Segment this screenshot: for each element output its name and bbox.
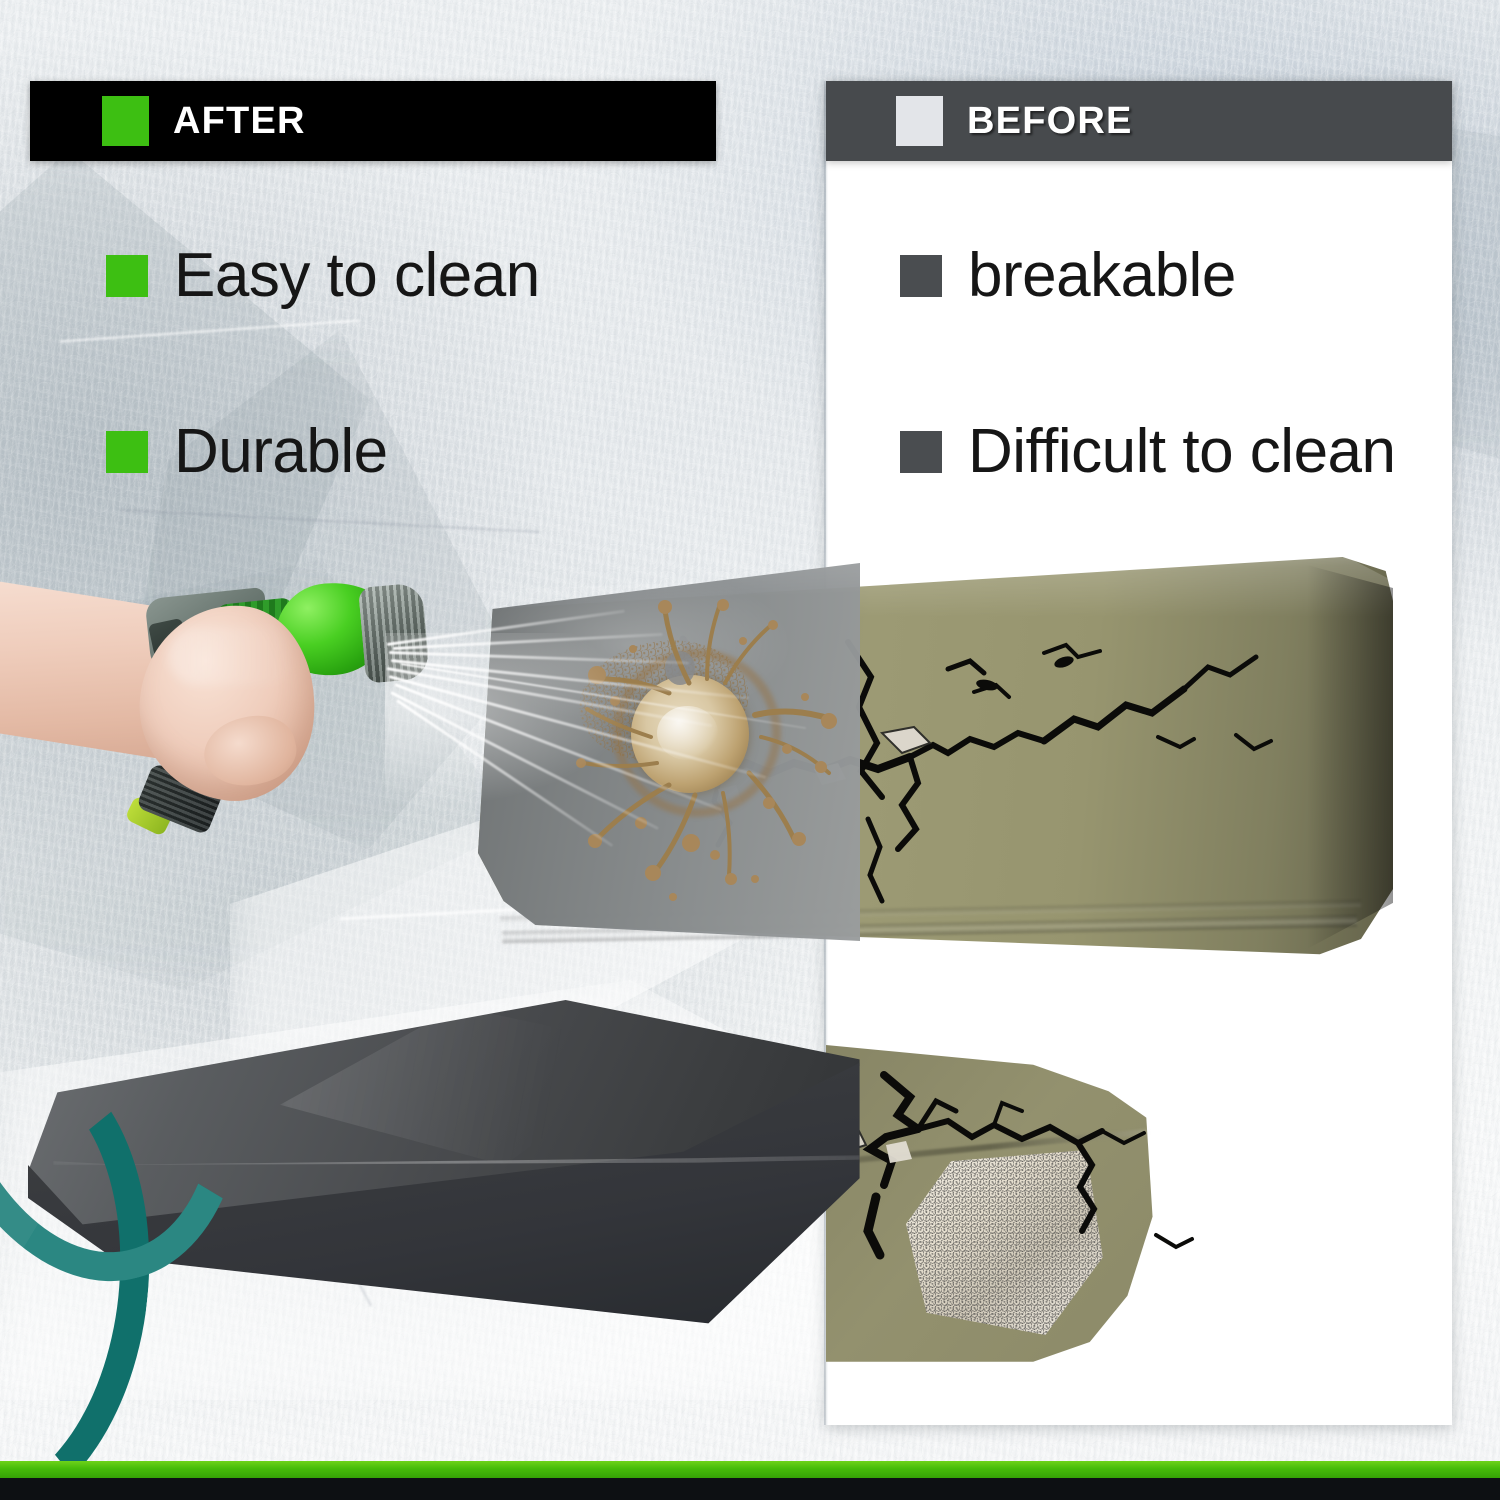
before-bullet-label: breakable [968, 240, 1236, 311]
gray-square-bullet-icon [900, 255, 942, 297]
after-header-label: AFTER [173, 100, 306, 143]
gray-square-bullet-icon [900, 431, 942, 473]
hand-highlight [168, 627, 298, 685]
green-square-bullet-icon [106, 255, 148, 297]
crack-lines-icon [826, 1045, 1454, 1375]
list-item: breakable [900, 240, 1396, 311]
hand-holding-icon [0, 575, 410, 1415]
after-bullet-label: Easy to clean [174, 240, 540, 311]
green-square-bullet-icon [106, 431, 148, 473]
footer-black-bar [0, 1478, 1500, 1500]
backrest-cushion-image [478, 557, 1393, 957]
before-header-label: BEFORE [967, 100, 1133, 143]
list-item: Durable [106, 416, 540, 487]
before-bullet-label: Difficult to clean [968, 416, 1396, 487]
comparison-infographic: AFTER BEFORE Easy to clean Durable break… [0, 0, 1500, 1500]
green-square-icon [102, 96, 149, 146]
after-bullet-list: Easy to clean Durable [106, 240, 540, 487]
footer-green-bar [0, 1461, 1500, 1478]
cracked-seat-image [826, 1045, 1454, 1375]
before-header: BEFORE [826, 81, 1452, 161]
light-square-icon [896, 96, 943, 146]
list-item: Difficult to clean [900, 416, 1396, 487]
after-header: AFTER [30, 81, 716, 161]
garden-hose-texture [0, 776, 291, 1317]
after-bullet-label: Durable [174, 416, 388, 487]
before-bullet-list: breakable Difficult to clean [900, 240, 1396, 487]
stain-rays [573, 597, 843, 897]
list-item: Easy to clean [106, 240, 540, 311]
nozzle-spray-head [358, 582, 430, 683]
coffee-splash-stain-icon [573, 597, 843, 897]
